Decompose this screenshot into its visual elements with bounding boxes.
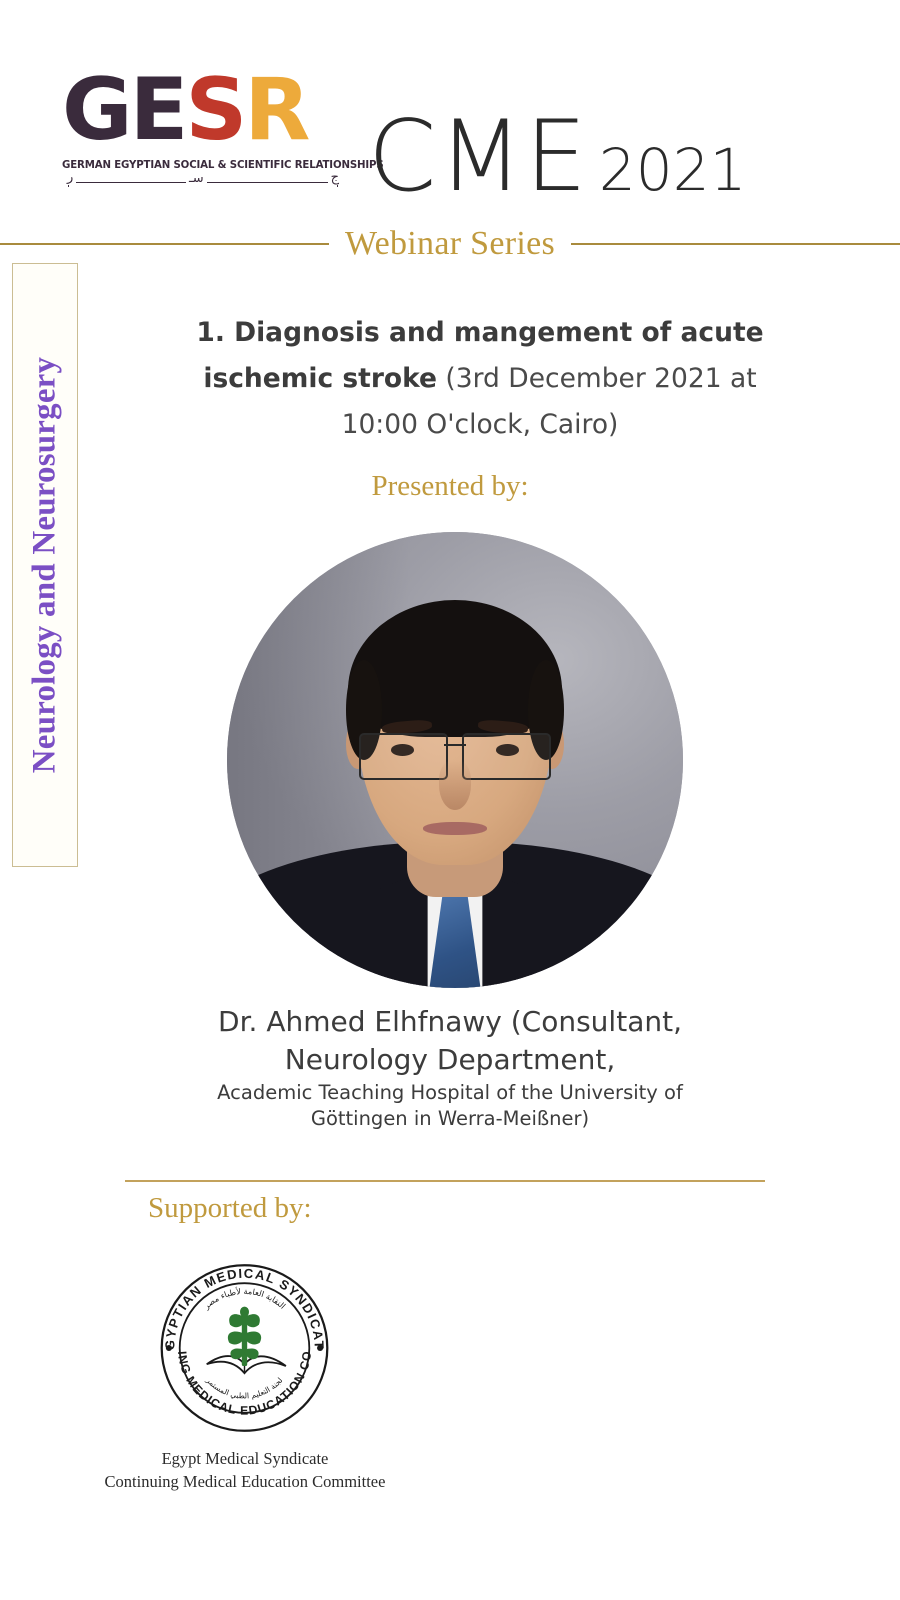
series-rule-right	[571, 243, 900, 244]
speaker-affiliation: Academic Teaching Hospital of the Univer…	[200, 1080, 700, 1132]
specialty-label: Neurology and Neurosurgery	[27, 357, 64, 773]
gesr-letter-g: G	[62, 60, 130, 160]
gesr-logo: GESR GERMAN EGYPTIAN SOCIAL & SCIENTIFIC…	[62, 62, 347, 192]
portrait-glasses-bridge	[444, 744, 467, 746]
gesr-tagline: GERMAN EGYPTIAN SOCIAL & SCIENTIFIC RELA…	[62, 160, 347, 171]
gesr-arabic-left: ر	[64, 170, 76, 185]
poster-header: GESR GERMAN EGYPTIAN SOCIAL & SCIENTIFIC…	[0, 52, 900, 192]
portrait-nose	[439, 760, 471, 810]
webinar-series-bar: Webinar Series	[0, 225, 900, 263]
portrait-lens-left	[359, 733, 447, 780]
gesr-letter-s: S	[185, 60, 244, 160]
series-rule-left	[0, 243, 329, 244]
egyptian-medical-syndicate-logo: EGYPTIAN MEDICAL SYNDICATE CONTINUING ME…	[152, 1258, 337, 1438]
gesr-letter-r: R	[244, 60, 307, 160]
ems-dot-right	[317, 1345, 323, 1351]
portrait-lens-right	[462, 733, 550, 780]
speaker-portrait	[227, 532, 683, 988]
gesr-arabic-mid: سـ	[186, 171, 207, 186]
speaker-name: Dr. Ahmed Elhfnawy (Consultant, Neurolog…	[150, 1003, 750, 1079]
ems-caption-line-2: Continuing Medical Education Committee	[40, 1470, 450, 1493]
portrait-mouth	[423, 822, 487, 836]
ems-green-plant	[228, 1307, 261, 1366]
lecture-title: 1. Diagnosis and mangement of acute isch…	[190, 310, 770, 448]
series-title: Webinar Series	[329, 225, 571, 263]
ems-caption-line-1: Egypt Medical Syndicate	[40, 1447, 450, 1470]
cme-year: 2021	[599, 136, 747, 204]
gesr-arabic-right: ج	[328, 170, 342, 185]
ems-caption: Egypt Medical Syndicate Continuing Medic…	[40, 1447, 450, 1493]
cme-logo: CME2021	[368, 100, 747, 214]
supported-by-label: Supported by:	[148, 1192, 312, 1225]
presented-by-label: Presented by:	[0, 470, 900, 503]
ems-dot-left	[166, 1345, 172, 1351]
gesr-letter-e: E	[130, 60, 186, 160]
gesr-arabic-rule: ج سـ ر	[62, 174, 344, 190]
ems-logo-svg: EGYPTIAN MEDICAL SYNDICATE CONTINUING ME…	[152, 1258, 337, 1438]
specialty-sidebar: Neurology and Neurosurgery	[12, 263, 78, 867]
gesr-wordmark: GESR	[62, 62, 347, 158]
cme-wordmark: CME	[368, 100, 589, 214]
gold-divider	[125, 1180, 765, 1182]
